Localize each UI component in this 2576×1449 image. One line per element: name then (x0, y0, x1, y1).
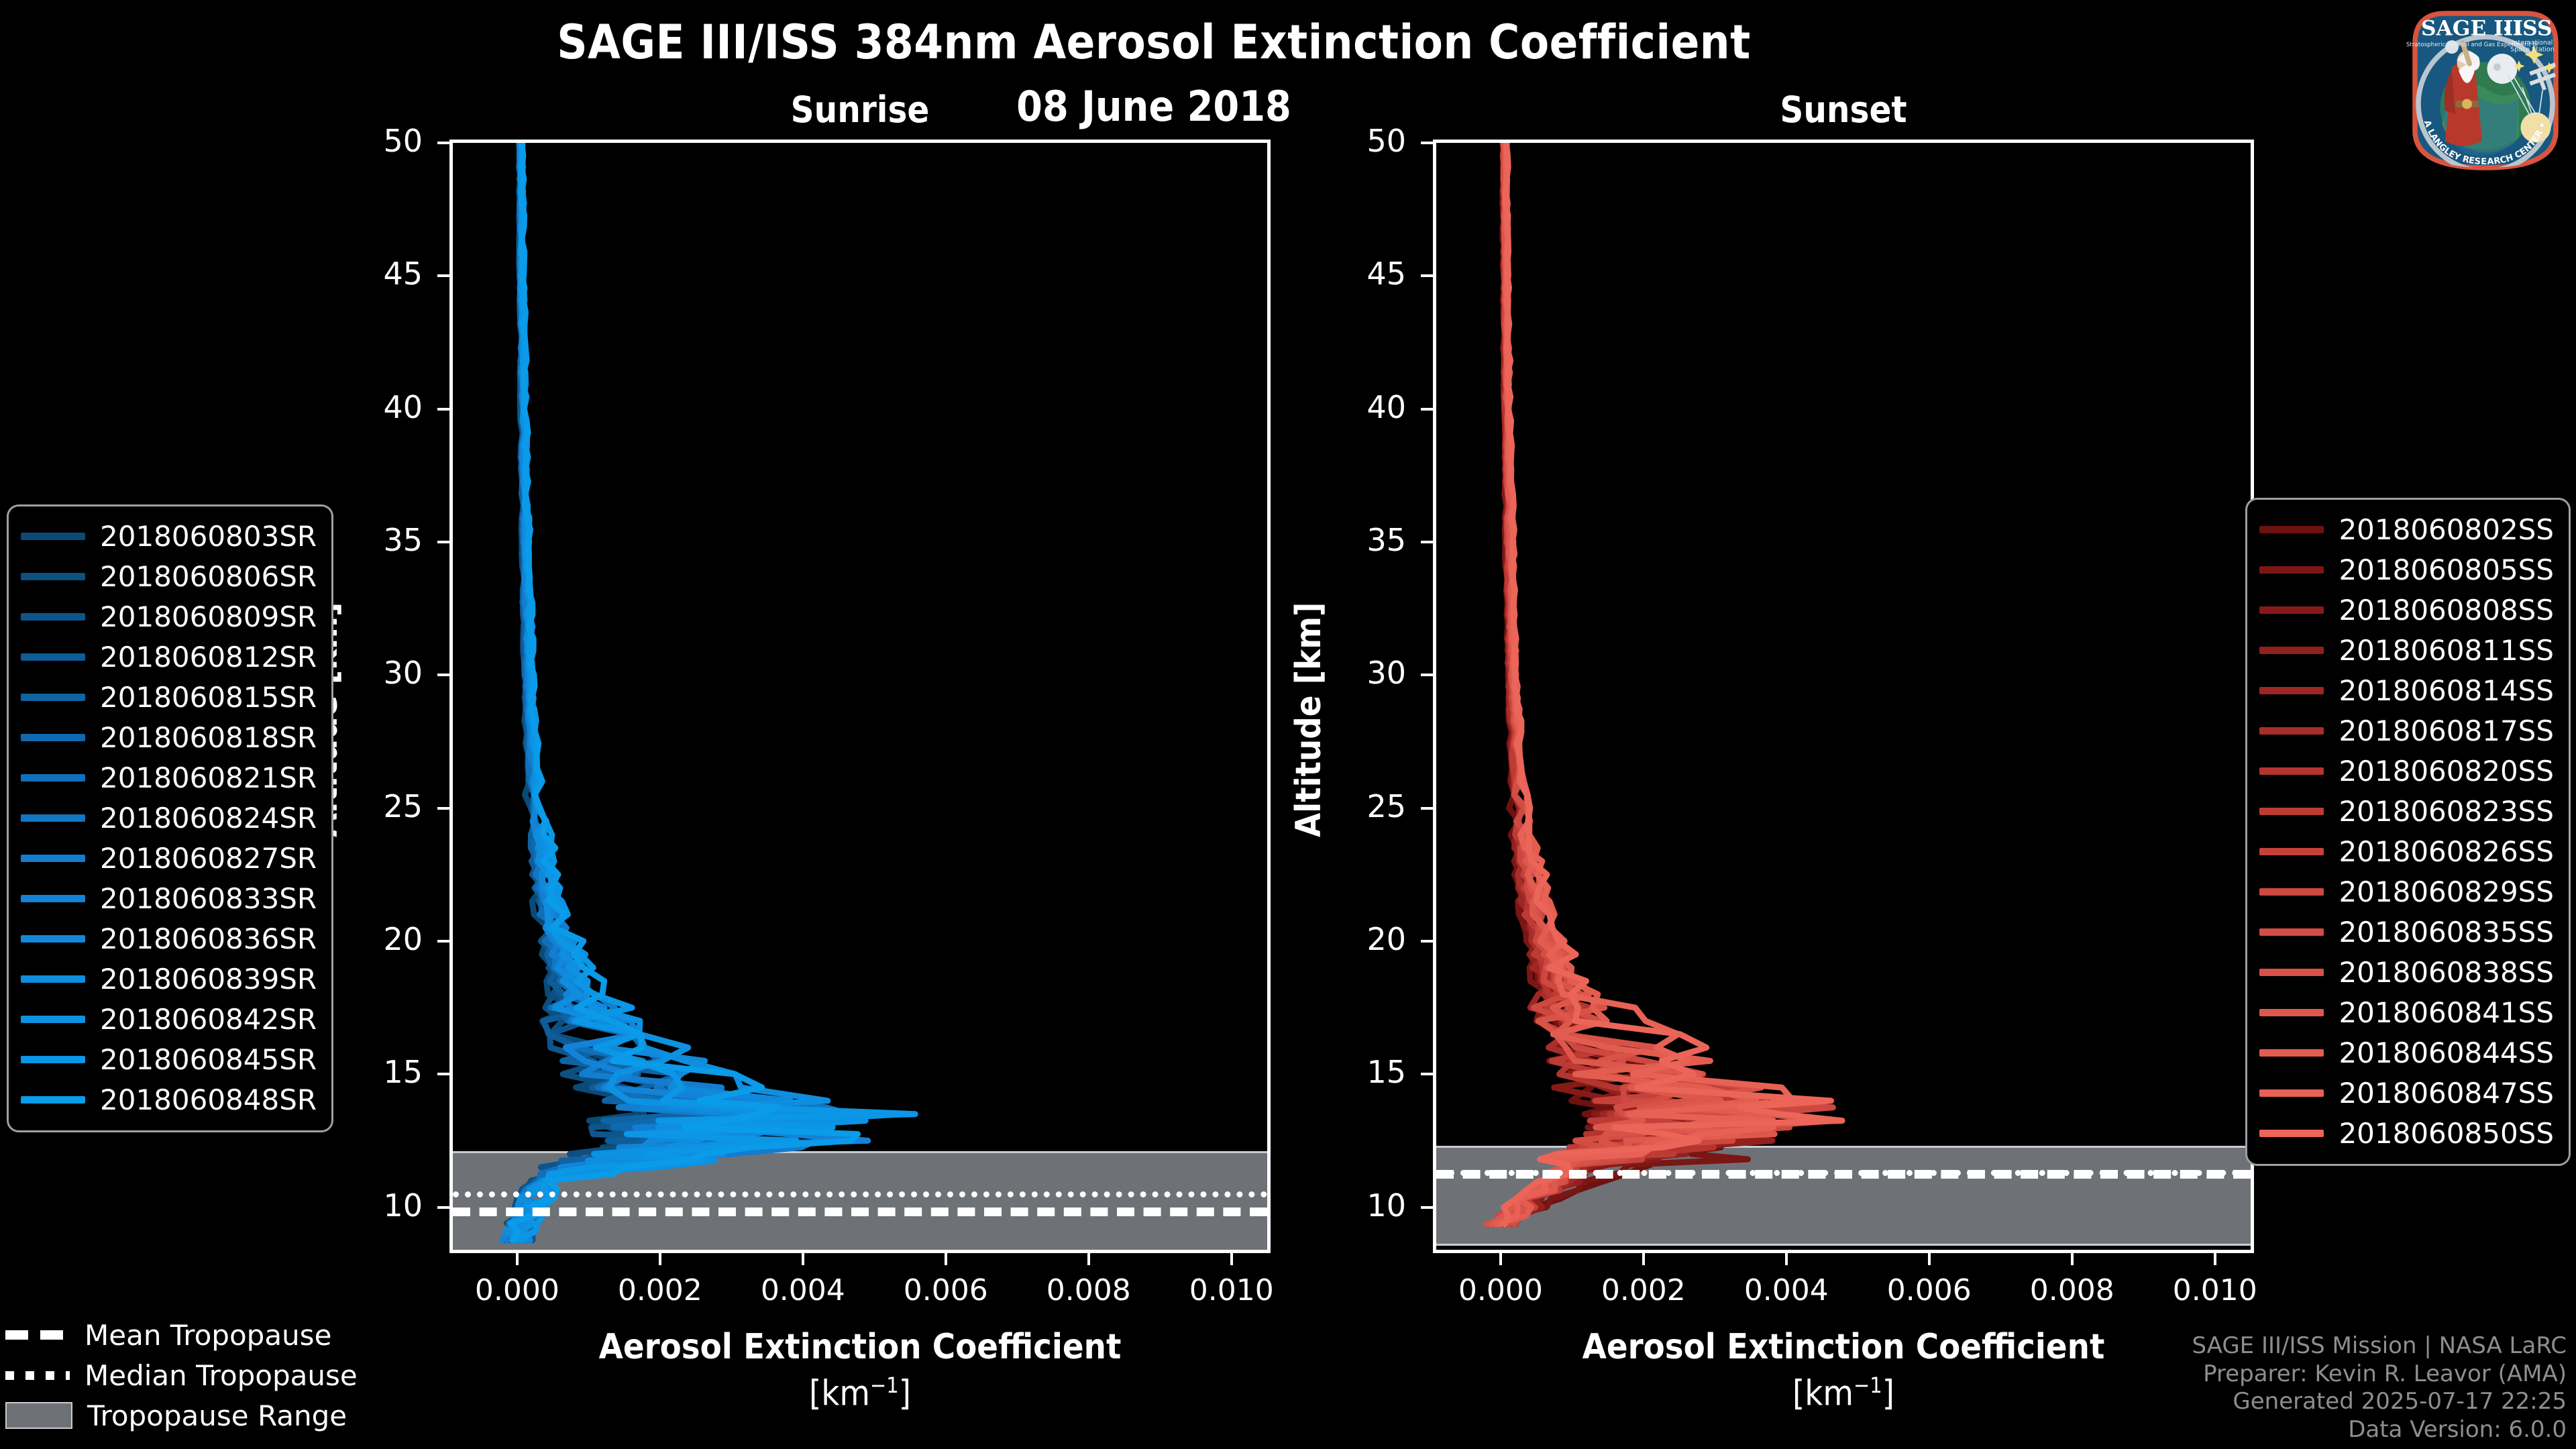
legend-item-label: 2018060806SR (100, 560, 317, 593)
y-axis-tick (1421, 807, 1433, 810)
x-axis-tick (1785, 1253, 1788, 1265)
legend-item-label: 2018060812SR (100, 641, 317, 674)
x-axis-tick (945, 1253, 947, 1265)
legend-item[interactable]: 2018060823SS (2259, 791, 2554, 831)
y-axis-tick-label: 40 (1305, 389, 1406, 425)
filled-band-icon (5, 1402, 72, 1429)
legend-color-swatch (2259, 1130, 2324, 1137)
legend-item-label: 2018060815SR (100, 681, 317, 714)
y-axis-tick (1421, 541, 1433, 543)
legend-item[interactable]: 2018060842SR (21, 999, 317, 1039)
legend-color-swatch (2259, 767, 2324, 775)
x-axis-tick (802, 1253, 804, 1265)
legend-color-swatch (2259, 808, 2324, 815)
y-axis-tick-label: 15 (322, 1054, 423, 1090)
y-axis-tick-label: 45 (322, 256, 423, 292)
legend-color-swatch (21, 855, 85, 862)
profile-curves (453, 143, 1267, 1250)
legend-item[interactable]: 2018060827SR (21, 838, 317, 878)
legend-color-swatch (21, 1016, 85, 1023)
svg-text:Space Station: Space Station (2510, 46, 2555, 53)
legend-color-swatch (2259, 526, 2324, 533)
legend-item-label: 2018060844SS (2339, 1036, 2554, 1069)
y-axis-tick (1421, 274, 1433, 277)
legend-color-swatch (2259, 1009, 2324, 1016)
y-axis-tick-label: 40 (322, 389, 423, 425)
legend-item-label: 2018060809SR (100, 600, 317, 633)
legend-item[interactable]: 2018060839SR (21, 959, 317, 999)
legend-color-swatch (2259, 606, 2324, 614)
y-axis-tick-label: 20 (322, 921, 423, 957)
x-axis-tick-label: 0.004 (1706, 1273, 1867, 1307)
y-axis-tick-label: 15 (1305, 1054, 1406, 1090)
sage-iii-iss-logo-icon: SAGE III • ISS Stratospheric Aerosol and… (2402, 4, 2569, 177)
legend-item[interactable]: 2018060817SS (2259, 710, 2554, 751)
legend-item[interactable]: 2018060820SS (2259, 751, 2554, 791)
legend-tropopause: Mean Tropopause Median Tropopause Tropop… (5, 1315, 358, 1436)
y-axis-tick (437, 1073, 449, 1075)
legend-row-tropopause-range: Tropopause Range (5, 1395, 358, 1436)
svg-text:•: • (2502, 21, 2511, 38)
legend-color-swatch (2259, 888, 2324, 896)
x-axis-tick (1642, 1253, 1645, 1265)
y-axis-tick (437, 807, 449, 810)
legend-item-label: 2018060842SR (100, 1003, 317, 1036)
profile-line (518, 143, 792, 1240)
x-axis-tick (2071, 1253, 2074, 1265)
legend-item[interactable]: 2018060809SR (21, 596, 317, 637)
profile-line (515, 143, 792, 1240)
x-axis-tick-label: 0.002 (1563, 1273, 1724, 1307)
legend-color-swatch (2259, 727, 2324, 735)
x-axis-tick (1087, 1253, 1090, 1265)
legend-item-label: 2018060824SR (100, 802, 317, 835)
profile-curves (1436, 143, 2251, 1250)
legend-color-swatch (21, 1096, 85, 1104)
legend-item-label: 2018060818SR (100, 721, 317, 754)
legend-color-swatch (2259, 1089, 2324, 1097)
y-axis-tick-label: 50 (1305, 123, 1406, 159)
y-axis-tick (437, 674, 449, 676)
y-axis-tick (1421, 1206, 1433, 1209)
legend-label-tropopause-range: Tropopause Range (87, 1399, 347, 1432)
legend-item[interactable]: 2018060803SR (21, 516, 317, 556)
y-axis-tick-label: 10 (322, 1187, 423, 1224)
legend-color-swatch (21, 895, 85, 902)
legend-item-label: 2018060805SS (2339, 553, 2554, 586)
legend-color-swatch (21, 1056, 85, 1063)
y-axis-title: Altitude [km] (1289, 602, 1329, 837)
x-axis-tick (659, 1253, 661, 1265)
legend-item[interactable]: 2018060847SS (2259, 1073, 2554, 1113)
legend-color-swatch (21, 653, 85, 661)
panel-title-sunrise: Sunrise (449, 89, 1271, 131)
x-axis-tick-label: 0.008 (1008, 1273, 1169, 1307)
median-tropopause-line (453, 1191, 1267, 1197)
y-axis-tick (437, 1206, 449, 1209)
legend-color-swatch (21, 694, 85, 701)
footer-credits: SAGE III/ISS Mission | NASA LaRC Prepare… (2192, 1332, 2567, 1444)
x-axis-tick-label: 0.010 (2135, 1273, 2296, 1307)
legend-color-swatch (2259, 848, 2324, 855)
legend-item[interactable]: 2018060835SS (2259, 912, 2554, 952)
x-axis-tick (516, 1253, 519, 1265)
y-axis-tick-label: 45 (1305, 256, 1406, 292)
legend-item[interactable]: 2018060826SS (2259, 831, 2554, 871)
legend-item[interactable]: 2018060841SS (2259, 992, 2554, 1032)
legend-color-swatch (21, 613, 85, 621)
legend-label-median-tropopause: Median Tropopause (85, 1359, 358, 1392)
x-axis-unit: [km−1] (1433, 1373, 2254, 1413)
legend-item-label: 2018060821SR (100, 761, 317, 794)
legend-item[interactable]: 2018060815SR (21, 677, 317, 717)
legend-color-swatch (2259, 1049, 2324, 1057)
legend-sunset[interactable]: 2018060802SS2018060805SS2018060808SS2018… (2245, 498, 2571, 1166)
legend-item[interactable]: 2018060838SS (2259, 952, 2554, 992)
legend-color-swatch (21, 814, 85, 822)
legend-item[interactable]: 2018060848SR (21, 1079, 317, 1120)
legend-item[interactable]: 2018060829SS (2259, 871, 2554, 912)
x-axis-tick (1928, 1253, 1931, 1265)
legend-color-swatch (21, 734, 85, 741)
y-axis-tick (1421, 1073, 1433, 1075)
legend-color-swatch (2259, 928, 2324, 936)
legend-item[interactable]: 2018060818SR (21, 717, 317, 757)
x-axis-tick-label: 0.006 (1849, 1273, 2010, 1307)
y-axis-tick (1421, 142, 1433, 144)
x-axis-tick-label: 0.010 (1151, 1273, 1312, 1307)
legend-color-swatch (21, 573, 85, 580)
legend-item[interactable]: 2018060808SS (2259, 590, 2554, 630)
y-axis-tick-label: 50 (322, 123, 423, 159)
dotted-line-icon (5, 1371, 70, 1380)
legend-item-label: 2018060814SS (2339, 674, 2554, 707)
footer-line-preparer: Preparer: Kevin R. Leavor (AMA) (2192, 1360, 2567, 1388)
legend-color-swatch (2259, 566, 2324, 574)
mean-tropopause-line (453, 1207, 1267, 1216)
y-axis-tick (1421, 940, 1433, 943)
y-axis-tick (437, 940, 449, 943)
y-axis-tick-label: 35 (322, 522, 423, 558)
x-axis-tick-label: 0.008 (1992, 1273, 2153, 1307)
svg-text:ISS: ISS (2512, 17, 2552, 41)
x-axis-tick (1230, 1253, 1233, 1265)
legend-color-swatch (2259, 647, 2324, 654)
legend-row-median-tropopause: Median Tropopause (5, 1355, 358, 1395)
legend-item[interactable]: 2018060833SR (21, 878, 317, 918)
legend-color-swatch (2259, 687, 2324, 694)
dashed-line-icon (5, 1330, 70, 1340)
legend-item-label: 2018060827SR (100, 842, 317, 875)
x-axis-tick-label: 0.000 (437, 1273, 598, 1307)
legend-sunrise[interactable]: 2018060803SR2018060806SR2018060809SR2018… (7, 504, 333, 1132)
footer-line-mission: SAGE III/ISS Mission | NASA LaRC (2192, 1332, 2567, 1360)
footer-line-generated: Generated 2025-07-17 22:25 (2192, 1388, 2567, 1415)
legend-item-label: 2018060845SR (100, 1043, 317, 1076)
x-axis-tick-label: 0.006 (865, 1273, 1026, 1307)
legend-label-mean-tropopause: Mean Tropopause (85, 1319, 331, 1352)
legend-item-label: 2018060839SR (100, 963, 317, 996)
legend-item-label: 2018060808SS (2339, 594, 2554, 627)
legend-item[interactable]: 2018060850SS (2259, 1113, 2554, 1153)
legend-item-label: 2018060829SS (2339, 875, 2554, 908)
legend-item[interactable]: 2018060845SR (21, 1039, 317, 1079)
y-axis-tick (437, 541, 449, 543)
footer-line-version: Data Version: 6.0.0 (2192, 1416, 2567, 1444)
mean-tropopause-line (1436, 1170, 2251, 1179)
legend-item-label: 2018060841SS (2339, 996, 2554, 1029)
legend-color-swatch (21, 533, 85, 540)
legend-item-label: 2018060838SS (2339, 956, 2554, 989)
legend-item-label: 2018060833SR (100, 882, 317, 915)
y-axis-tick (437, 142, 449, 144)
legend-color-swatch (21, 774, 85, 782)
y-axis-tick (1421, 408, 1433, 411)
legend-item-label: 2018060847SS (2339, 1077, 2554, 1110)
legend-color-swatch (21, 975, 85, 983)
plot-sunset[interactable] (1433, 140, 2254, 1253)
legend-item[interactable]: 2018060821SR (21, 757, 317, 798)
y-axis-tick (437, 408, 449, 411)
legend-item-label: 2018060850SS (2339, 1117, 2554, 1150)
x-axis-title: Aerosol Extinction Coefficient (1433, 1327, 2254, 1367)
x-axis-tick (1499, 1253, 1502, 1265)
legend-item-label: 2018060803SR (100, 520, 317, 553)
legend-item[interactable]: 2018060836SR (21, 918, 317, 959)
legend-item[interactable]: 2018060802SS (2259, 509, 2554, 549)
plot-sunrise[interactable] (449, 140, 1271, 1253)
legend-item-label: 2018060848SR (100, 1083, 317, 1116)
x-axis-tick (2214, 1253, 2216, 1265)
legend-color-swatch (21, 935, 85, 943)
legend-item-label: 2018060826SS (2339, 835, 2554, 868)
legend-item[interactable]: 2018060824SR (21, 798, 317, 838)
y-axis-tick-label: 20 (1305, 921, 1406, 957)
legend-item-label: 2018060836SR (100, 922, 317, 955)
legend-item[interactable]: 2018060812SR (21, 637, 317, 677)
legend-item[interactable]: 2018060814SS (2259, 670, 2554, 710)
y-axis-tick (1421, 674, 1433, 676)
panel-title-sunset: Sunset (1433, 89, 2254, 131)
legend-item-label: 2018060835SS (2339, 916, 2554, 949)
legend-item[interactable]: 2018060844SS (2259, 1032, 2554, 1073)
x-axis-title: Aerosol Extinction Coefficient (449, 1327, 1271, 1367)
legend-item[interactable]: 2018060806SR (21, 556, 317, 596)
legend-item[interactable]: 2018060811SS (2259, 630, 2554, 670)
x-axis-tick-label: 0.000 (1420, 1273, 1581, 1307)
legend-item-label: 2018060802SS (2339, 513, 2554, 546)
x-axis-tick-label: 0.002 (580, 1273, 741, 1307)
y-axis-tick-label: 10 (1305, 1187, 1406, 1224)
y-axis-tick (437, 274, 449, 277)
legend-color-swatch (2259, 969, 2324, 976)
legend-row-mean-tropopause: Mean Tropopause (5, 1315, 358, 1355)
y-axis-tick-label: 35 (1305, 522, 1406, 558)
legend-item-label: 2018060823SS (2339, 795, 2554, 828)
profile-line (502, 143, 878, 1240)
legend-item[interactable]: 2018060805SS (2259, 549, 2554, 590)
x-axis-tick-label: 0.004 (722, 1273, 883, 1307)
legend-item-label: 2018060820SS (2339, 755, 2554, 788)
profile-line (515, 143, 796, 1240)
legend-item-label: 2018060817SS (2339, 714, 2554, 747)
page-title: SAGE III/ISS 384nm Aerosol Extinction Co… (0, 15, 2308, 70)
legend-item-label: 2018060811SS (2339, 634, 2554, 667)
x-axis-unit: [km−1] (449, 1373, 1271, 1413)
